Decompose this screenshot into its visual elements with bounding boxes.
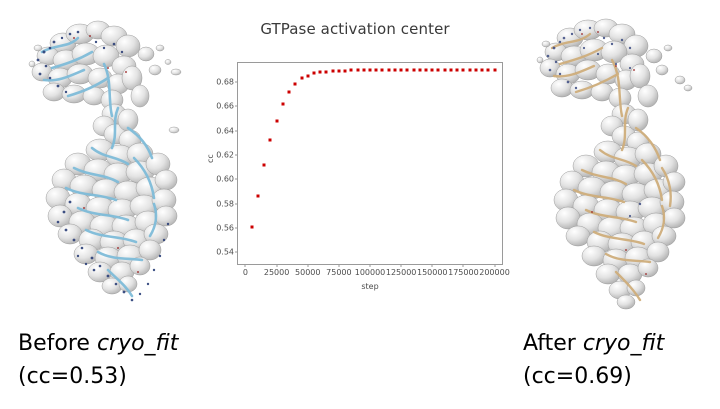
data-point bbox=[456, 68, 459, 71]
y-axis-tick-mark bbox=[235, 154, 238, 155]
data-point bbox=[294, 83, 297, 86]
x-axis-tick-label: 150000 bbox=[417, 268, 448, 277]
x-axis-tick-mark bbox=[432, 264, 433, 267]
before-cryofit-structure-image bbox=[8, 8, 208, 318]
x-axis-tick-mark bbox=[338, 264, 339, 267]
data-point bbox=[375, 69, 378, 72]
data-point bbox=[493, 68, 496, 71]
y-axis-tick-label: 0.56 bbox=[216, 224, 234, 233]
x-axis-tick-mark bbox=[276, 264, 277, 267]
data-point bbox=[300, 77, 303, 80]
data-point bbox=[331, 69, 334, 72]
data-point bbox=[319, 71, 322, 74]
x-axis-tick-mark bbox=[463, 264, 464, 267]
before-caption-prefix: Before bbox=[18, 331, 97, 356]
x-axis-tick-label: 125000 bbox=[386, 268, 417, 277]
data-point bbox=[393, 68, 396, 71]
data-point bbox=[325, 70, 328, 73]
data-point bbox=[449, 68, 452, 71]
figure-canvas: GTPase activation center 0.540.560.580.6… bbox=[0, 0, 720, 409]
data-point bbox=[381, 68, 384, 71]
data-point bbox=[387, 68, 390, 71]
before-caption-cc: (cc=0.53) bbox=[18, 360, 178, 393]
data-point bbox=[269, 139, 272, 142]
y-axis-tick-label: 0.66 bbox=[216, 102, 234, 111]
y-axis-tick-mark bbox=[235, 81, 238, 82]
x-axis-tick-label: 25000 bbox=[264, 268, 289, 277]
data-point bbox=[337, 69, 340, 72]
y-axis-tick-label: 0.62 bbox=[216, 150, 234, 159]
after-caption-line1: After cryo_fit bbox=[523, 327, 664, 360]
data-point bbox=[487, 68, 490, 71]
y-axis-tick-mark bbox=[235, 228, 238, 229]
before-caption-line1: Before cryo_fit bbox=[18, 327, 178, 360]
x-axis-tick-label: 200000 bbox=[479, 268, 510, 277]
y-axis-tick-label: 0.64 bbox=[216, 126, 234, 135]
y-axis-tick-mark bbox=[235, 130, 238, 131]
data-point bbox=[474, 68, 477, 71]
after-cryofit-structure-image bbox=[512, 8, 712, 318]
before-caption-program-name: cryo_fit bbox=[97, 331, 178, 356]
y-axis-tick-label: 0.60 bbox=[216, 175, 234, 184]
plot-area: 0.540.560.580.600.620.640.660.6802500050… bbox=[237, 62, 503, 265]
x-axis-tick-mark bbox=[494, 264, 495, 267]
x-axis-tick-mark bbox=[370, 264, 371, 267]
x-axis-tick-label: 50000 bbox=[295, 268, 320, 277]
y-axis-tick-label: 0.68 bbox=[216, 77, 234, 86]
data-point bbox=[462, 68, 465, 71]
cc-vs-step-chart: GTPase activation center 0.540.560.580.6… bbox=[200, 10, 510, 300]
data-point bbox=[281, 102, 284, 105]
x-axis-tick-mark bbox=[401, 264, 402, 267]
data-point bbox=[412, 68, 415, 71]
data-point bbox=[369, 69, 372, 72]
data-point bbox=[418, 68, 421, 71]
x-axis-tick-mark bbox=[245, 264, 246, 267]
data-point bbox=[306, 74, 309, 77]
data-point bbox=[362, 69, 365, 72]
y-axis-tick-mark bbox=[235, 106, 238, 107]
after-cryofit-caption: After cryo_fit (cc=0.69) bbox=[523, 327, 664, 393]
after-caption-program-name: cryo_fit bbox=[583, 331, 664, 356]
data-point bbox=[350, 69, 353, 72]
data-point bbox=[431, 68, 434, 71]
x-axis-label: step bbox=[237, 282, 503, 291]
after-caption-prefix: After bbox=[523, 331, 583, 356]
data-point bbox=[481, 68, 484, 71]
x-axis-tick-label: 75000 bbox=[326, 268, 351, 277]
data-point bbox=[443, 68, 446, 71]
y-axis-label: cc bbox=[206, 154, 215, 163]
data-point bbox=[406, 68, 409, 71]
data-point bbox=[275, 119, 278, 122]
data-point bbox=[468, 68, 471, 71]
y-axis-tick-mark bbox=[235, 252, 238, 253]
data-point bbox=[256, 195, 259, 198]
data-point bbox=[425, 68, 428, 71]
data-point bbox=[400, 68, 403, 71]
y-axis-tick-label: 0.58 bbox=[216, 199, 234, 208]
y-axis-tick-mark bbox=[235, 179, 238, 180]
x-axis-tick-label: 175000 bbox=[448, 268, 479, 277]
data-point bbox=[437, 68, 440, 71]
data-point bbox=[288, 90, 291, 93]
before-cryofit-caption: Before cryo_fit (cc=0.53) bbox=[18, 327, 178, 393]
data-point bbox=[356, 69, 359, 72]
data-point bbox=[312, 72, 315, 75]
chart-title: GTPase activation center bbox=[200, 20, 510, 38]
x-axis-tick-mark bbox=[307, 264, 308, 267]
data-point bbox=[263, 163, 266, 166]
x-axis-tick-label: 0 bbox=[243, 268, 248, 277]
x-axis-tick-label: 100000 bbox=[355, 268, 386, 277]
after-caption-cc: (cc=0.69) bbox=[523, 360, 664, 393]
y-axis-tick-mark bbox=[235, 203, 238, 204]
data-point bbox=[344, 69, 347, 72]
y-axis-tick-label: 0.54 bbox=[216, 248, 234, 257]
data-point bbox=[250, 225, 253, 228]
